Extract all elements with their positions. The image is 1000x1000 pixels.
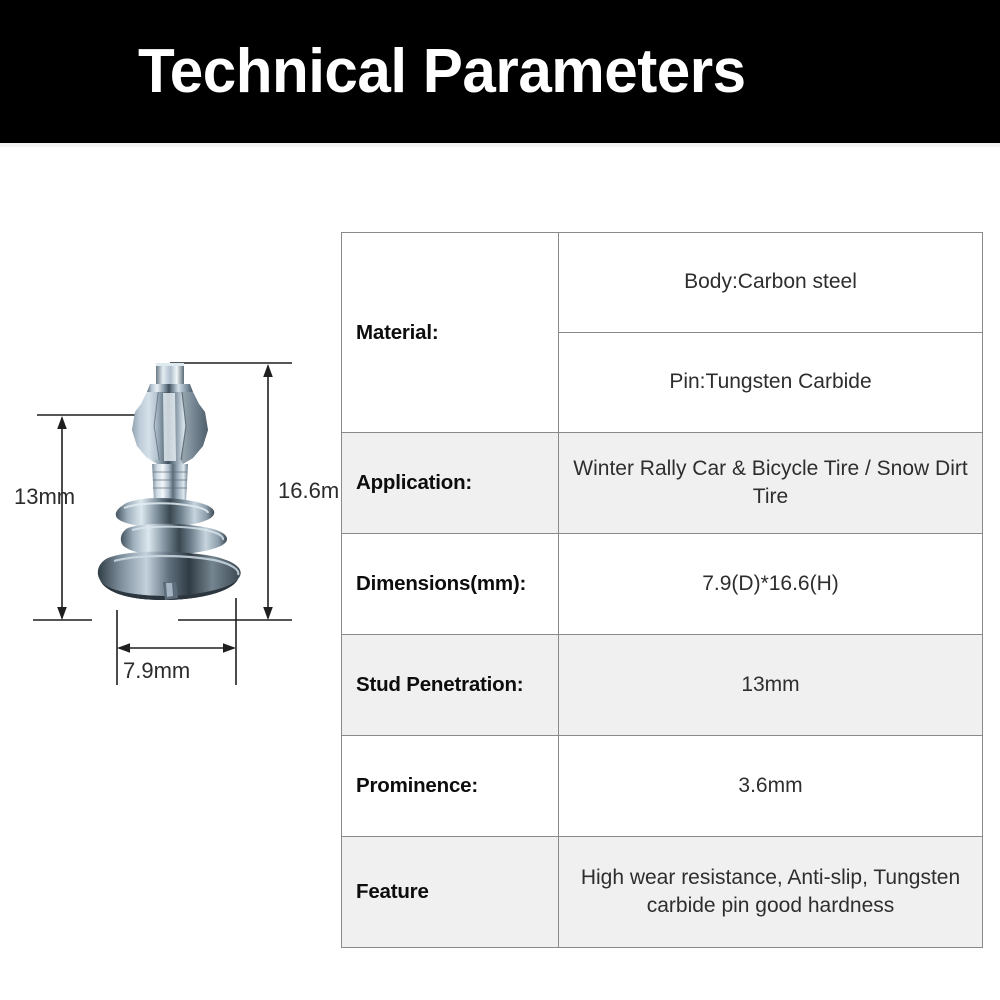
table-row-dimensions: Dimensions(mm): 7.9(D)*16.6(H) [342,534,983,635]
row-key-prominence: Prominence: [342,736,559,837]
row-key-dimensions: Dimensions(mm): [342,534,559,635]
row-value-application: Winter Rally Car & Bicycle Tire / Snow D… [559,433,983,534]
row-value-material-body: Body:Carbon steel [559,233,983,333]
header-banner: Technical Parameters [0,0,1000,143]
page-title: Technical Parameters [138,41,746,103]
dimension-label-7.9mm: 7.9mm [123,658,190,683]
table-row-material: Material: Body:Carbon steel [342,233,983,333]
row-key-material: Material: [342,233,559,433]
technical-parameters-table: Material: Body:Carbon steel Pin:Tungsten… [341,232,983,948]
table-row-prominence: Prominence: 3.6mm [342,736,983,837]
table-row-feature: Feature High wear resistance, Anti-slip,… [342,837,983,948]
row-value-feature: High wear resistance, Anti-slip, Tungste… [559,837,983,948]
table-row-application: Application: Winter Rally Car & Bicycle … [342,433,983,534]
row-key-application: Application: [342,433,559,534]
row-key-stud-penetration: Stud Penetration: [342,635,559,736]
row-value-prominence: 3.6mm [559,736,983,837]
row-key-feature: Feature [342,837,559,948]
table-row-stud-penetration: Stud Penetration: 13mm [342,635,983,736]
product-figure: 13mm 16.6mm 7.9mm [0,330,340,690]
row-value-stud-penetration: 13mm [559,635,983,736]
dimension-label-16.6mm: 16.6mm [278,478,340,503]
tire-stud-illustration [98,363,241,600]
header-divider [0,143,1000,147]
row-value-material-pin: Pin:Tungsten Carbide [559,333,983,433]
dimension-label-13mm: 13mm [14,484,75,509]
row-value-dimensions: 7.9(D)*16.6(H) [559,534,983,635]
